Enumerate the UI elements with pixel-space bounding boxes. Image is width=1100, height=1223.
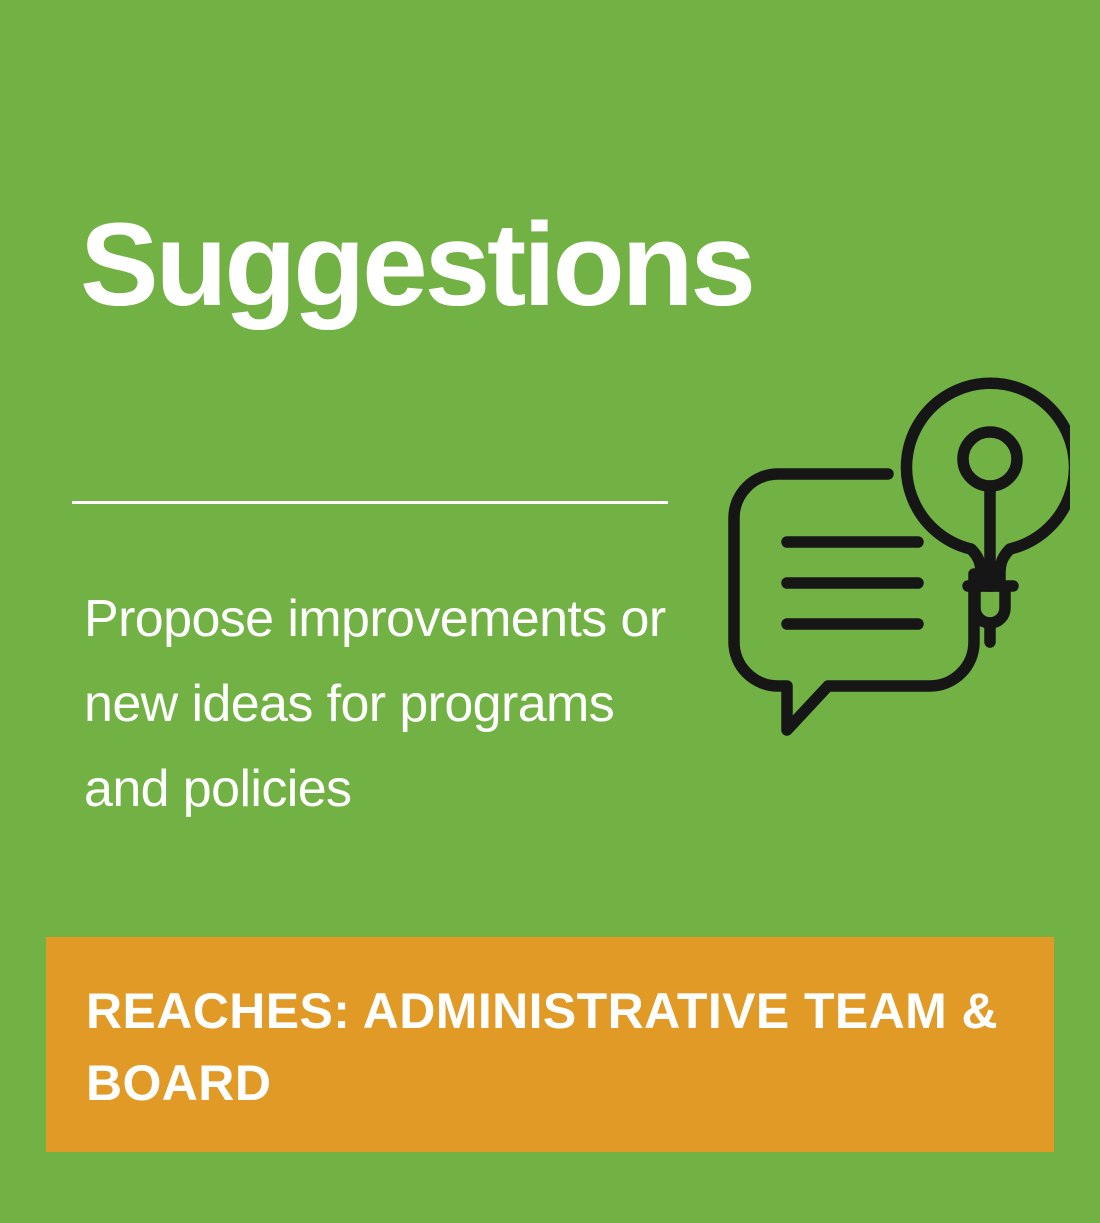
bulb-filament-circle <box>963 432 1017 486</box>
suggestions-card: Suggestions Propose improvements or new … <box>0 0 1100 1223</box>
description-text: Propose improvements or new ideas for pr… <box>84 577 704 832</box>
divider <box>72 501 668 504</box>
reach-banner-text: Reaches: Administrative Team & Board <box>86 975 1016 1119</box>
speech-bubble-outline <box>734 474 974 730</box>
reach-banner: Reaches: Administrative Team & Board <box>46 937 1054 1152</box>
speech-bubble-lightbulb-icon-svg <box>725 352 1070 737</box>
page-title: Suggestions <box>80 206 900 324</box>
speech-bubble-lightbulb-icon <box>725 352 1070 737</box>
